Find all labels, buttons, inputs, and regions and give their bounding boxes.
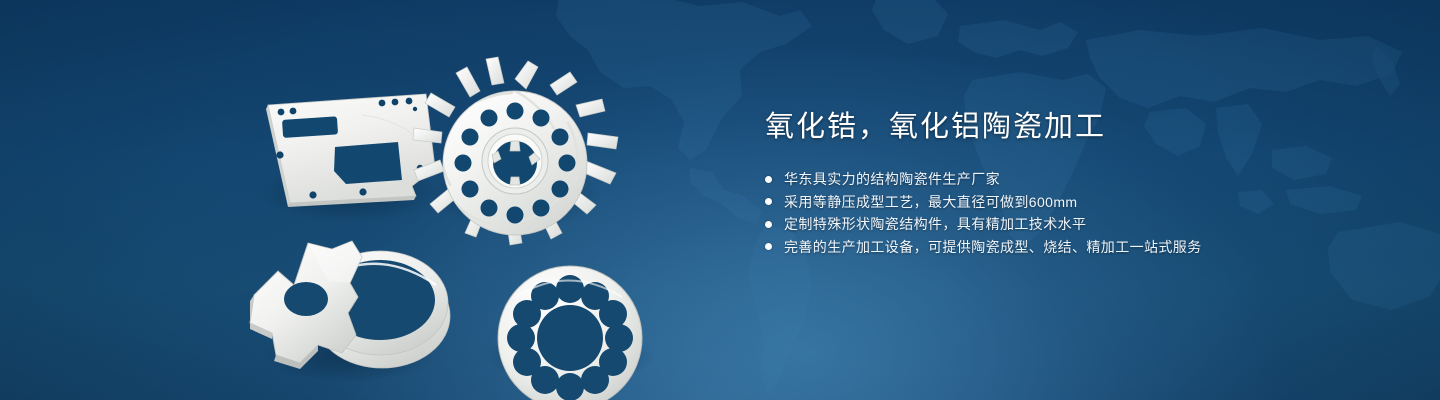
list-item: 采用等静压成型工艺，最大直径可做到600mm <box>765 191 1385 214</box>
banner-feature-list: 华东具实力的结构陶瓷件生产厂家 采用等静压成型工艺，最大直径可做到600mm 定… <box>765 168 1385 258</box>
ceramic-processing-banner: 氧化锆，氧化铝陶瓷加工 华东具实力的结构陶瓷件生产厂家 采用等静压成型工艺，最大… <box>0 0 1440 400</box>
feature-text: 定制特殊形状陶瓷结构件，具有精加工技术水平 <box>784 213 1086 236</box>
bullet-dot-icon <box>765 198 772 205</box>
bullet-dot-icon <box>765 243 772 250</box>
feature-text: 采用等静压成型工艺，最大直径可做到600mm <box>784 191 1077 214</box>
ceramic-hole-flange <box>498 266 642 400</box>
feature-text: 完善的生产加工设备，可提供陶瓷成型、烧结、精加工一站式服务 <box>784 236 1202 259</box>
ceramic-products-photo-group <box>230 45 730 385</box>
feature-text: 华东具实力的结构陶瓷件生产厂家 <box>784 168 1000 191</box>
banner-headline: 氧化锆，氧化铝陶瓷加工 <box>765 108 1385 146</box>
list-item: 华东具实力的结构陶瓷件生产厂家 <box>765 168 1385 191</box>
ceramic-impeller-disc <box>413 57 618 245</box>
list-item: 完善的生产加工设备，可提供陶瓷成型、烧结、精加工一站式服务 <box>765 236 1385 259</box>
bullet-dot-icon <box>765 221 772 228</box>
list-item: 定制特殊形状陶瓷结构件，具有精加工技术水平 <box>765 213 1385 236</box>
ceramic-mounting-plate <box>266 94 435 207</box>
bullet-dot-icon <box>765 176 772 183</box>
banner-text-column: 氧化锆，氧化铝陶瓷加工 华东具实力的结构陶瓷件生产厂家 采用等静压成型工艺，最大… <box>765 108 1385 258</box>
